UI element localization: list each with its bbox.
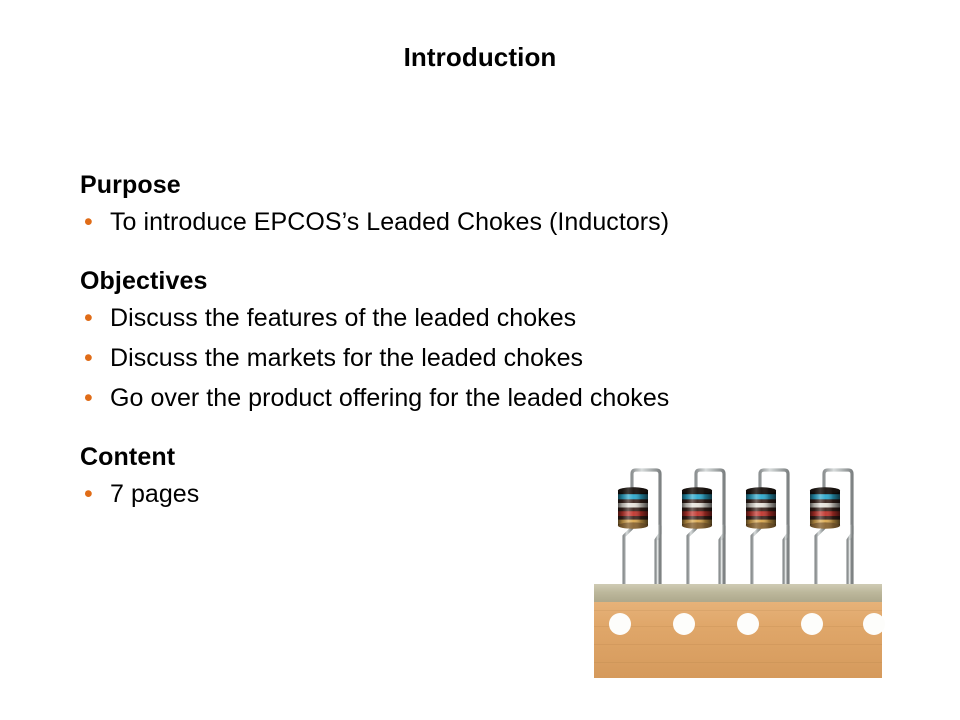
product-photo-leaded-chokes — [590, 458, 890, 680]
list-item: • To introduce EPCOS’s Leaded Chokes (In… — [80, 202, 780, 242]
bullet-icon: • — [80, 378, 110, 418]
list-item-label: Discuss the features of the leaded choke… — [110, 298, 780, 338]
section-heading-purpose: Purpose — [80, 168, 780, 202]
bullet-icon: • — [80, 202, 110, 242]
sprocket-hole — [801, 613, 823, 635]
bullet-icon: • — [80, 474, 110, 514]
list-item-label: Discuss the markets for the leaded choke… — [110, 338, 780, 378]
bullet-icon: • — [80, 338, 110, 378]
spacer — [80, 418, 780, 440]
carrier-tape — [594, 584, 885, 678]
sprocket-hole — [609, 613, 631, 635]
choke-component — [682, 470, 724, 586]
page-title: Introduction — [0, 41, 960, 73]
choke-component — [810, 470, 852, 586]
slide: Introduction Purpose • To introduce EPCO… — [0, 0, 960, 720]
choke-component — [746, 470, 788, 586]
list-item-label: Go over the product offering for the lea… — [110, 378, 780, 418]
choke-component — [618, 470, 660, 586]
list-item: • Discuss the markets for the leaded cho… — [80, 338, 780, 378]
list-item: • Go over the product offering for the l… — [80, 378, 780, 418]
sprocket-hole — [737, 613, 759, 635]
list-item-label: To introduce EPCOS’s Leaded Chokes (Indu… — [110, 202, 780, 242]
sprocket-hole — [673, 613, 695, 635]
spacer — [80, 242, 780, 264]
sprocket-hole — [863, 613, 885, 635]
bullet-icon: • — [80, 298, 110, 338]
section-heading-objectives: Objectives — [80, 264, 780, 298]
list-item: • Discuss the features of the leaded cho… — [80, 298, 780, 338]
